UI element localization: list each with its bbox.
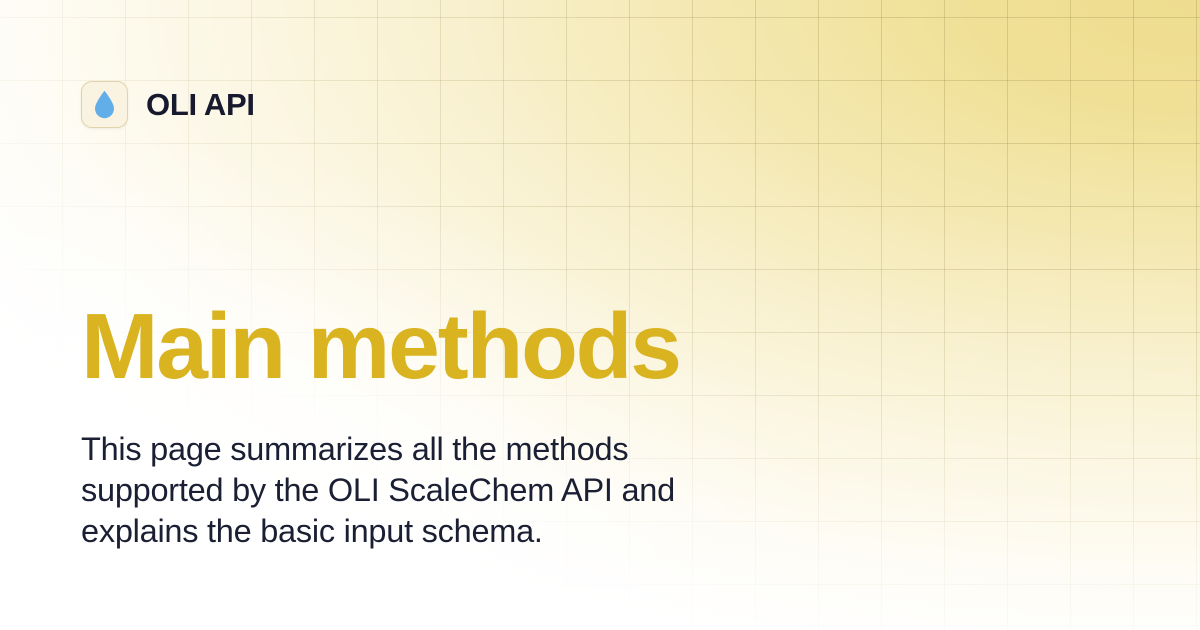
card-content: OLI API Main methods This page summarize… (0, 0, 1200, 630)
brand-name-label: OLI API (146, 89, 255, 120)
page-description: This page summarizes all the methods sup… (81, 429, 781, 552)
page-title: Main methods (81, 300, 680, 393)
og-preview-card: OLI API Main methods This page summarize… (0, 0, 1200, 630)
description-line: This page summarizes all the methods (81, 429, 781, 470)
water-droplet-icon (81, 81, 128, 128)
description-line: explains the basic input schema. (81, 511, 781, 552)
brand-lockup[interactable]: OLI API (81, 81, 255, 128)
description-line: supported by the OLI ScaleChem API and (81, 470, 781, 511)
